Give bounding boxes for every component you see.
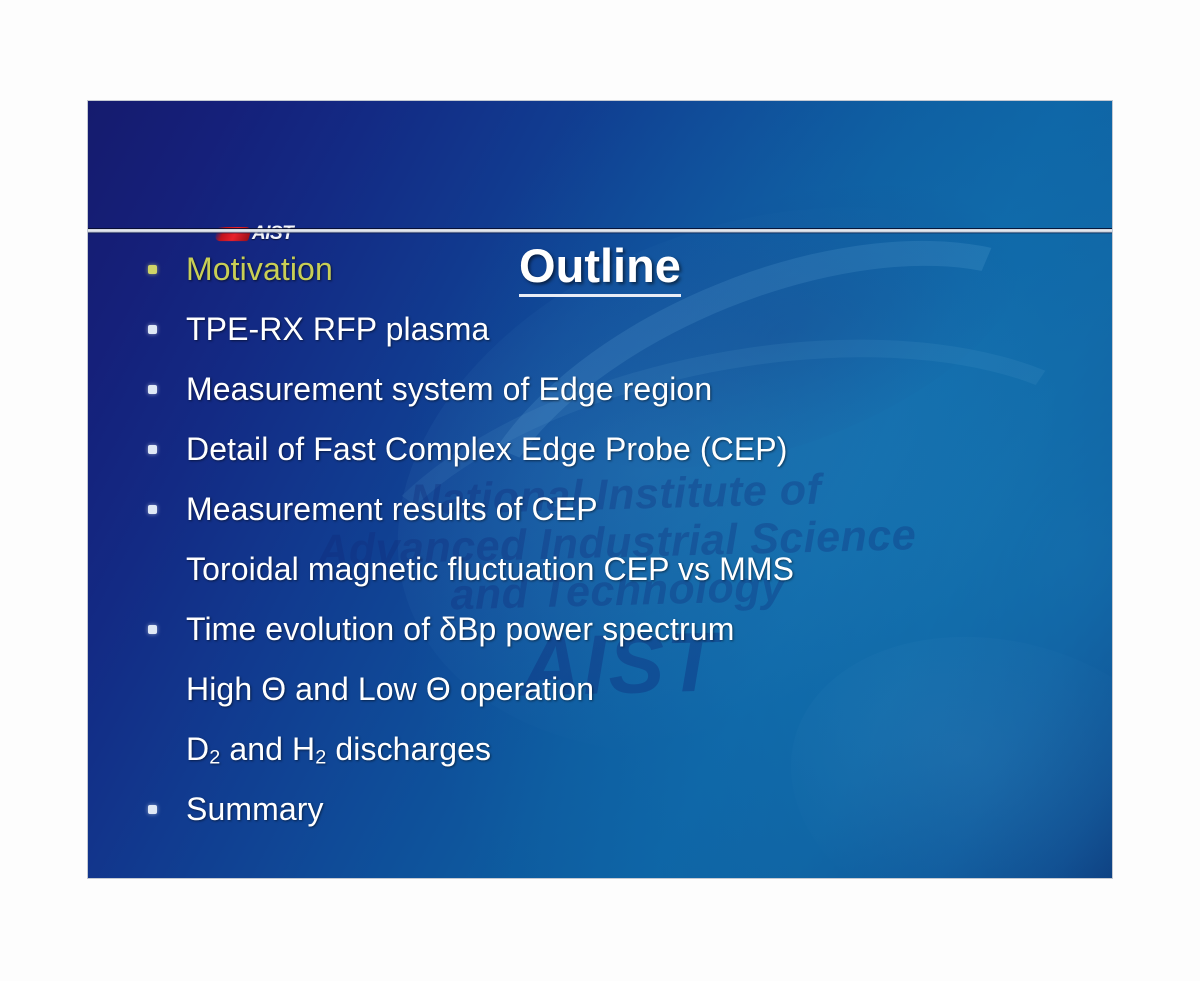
- outline-item-label: TPE-RX RFP plasma: [186, 311, 489, 348]
- outline-item: Motivation: [144, 251, 1084, 311]
- outline-item-label: D2 and H2 discharges: [186, 731, 491, 770]
- outline-item: Summary: [144, 791, 1084, 851]
- outline-item-label: Detail of Fast Complex Edge Probe (CEP): [186, 431, 787, 468]
- outline-item-label: Toroidal magnetic fluctuation CEP vs MMS: [186, 551, 794, 588]
- presentation-slide: National Institute of Advanced Industria…: [88, 101, 1112, 878]
- bullet-marker: [144, 327, 186, 345]
- bullet-marker: [144, 627, 186, 645]
- bullet-marker: [144, 447, 186, 465]
- outline-item-label: High Θ and Low Θ operation: [186, 671, 594, 708]
- bullet-marker: [144, 507, 186, 525]
- bullet-dot-icon: [148, 445, 157, 454]
- bullet-dot-icon: [148, 505, 157, 514]
- outline-item: TPE-RX RFP plasma: [144, 311, 1084, 371]
- outline-item: Detail of Fast Complex Edge Probe (CEP): [144, 431, 1084, 491]
- outline-item: Toroidal magnetic fluctuation CEP vs MMS: [144, 551, 1084, 611]
- bullet-dot-icon: [148, 625, 157, 634]
- outline-item-label: Measurement system of Edge region: [186, 371, 712, 408]
- bullet-marker: [144, 807, 186, 825]
- bullet-marker: [144, 387, 186, 405]
- page-canvas: National Institute of Advanced Industria…: [0, 0, 1200, 981]
- outline-list: MotivationTPE-RX RFP plasmaMeasurement s…: [144, 251, 1084, 851]
- bullet-dot-icon: [148, 805, 157, 814]
- bullet-dot-icon: [148, 265, 157, 274]
- bullet-marker: [144, 267, 186, 285]
- outline-item: Time evolution of δBp power spectrum: [144, 611, 1084, 671]
- outline-item-label: Time evolution of δBp power spectrum: [186, 611, 734, 648]
- outline-item: Measurement system of Edge region: [144, 371, 1084, 431]
- outline-item-label: Measurement results of CEP: [186, 491, 598, 528]
- outline-item: High Θ and Low Θ operation: [144, 671, 1084, 731]
- outline-item: Measurement results of CEP: [144, 491, 1084, 551]
- bullet-dot-icon: [148, 325, 157, 334]
- outline-item-label: Summary: [186, 791, 324, 828]
- outline-item: D2 and H2 discharges: [144, 731, 1084, 791]
- bullet-dot-icon: [148, 385, 157, 394]
- outline-item-label: Motivation: [186, 251, 333, 288]
- title-divider: [88, 228, 1112, 234]
